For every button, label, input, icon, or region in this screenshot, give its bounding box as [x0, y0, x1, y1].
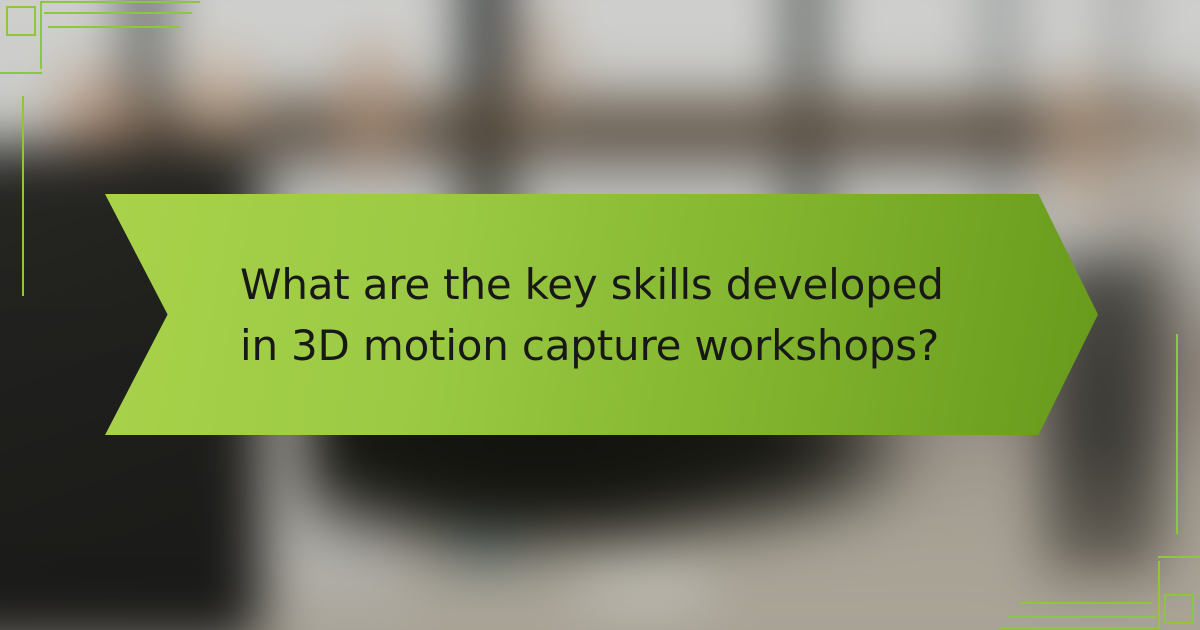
corner-decoration-bottom-right — [1000, 500, 1200, 630]
corner-line-horizontal — [48, 26, 180, 28]
corner-lines-inner — [1000, 530, 1200, 630]
promo-card: What are the key skills developed in 3D … — [0, 0, 1200, 630]
corner-lines-inner — [0, 0, 200, 100]
corner-line-vertical — [22, 96, 24, 296]
corner-line-vertical — [1176, 334, 1178, 534]
corner-line-horizontal — [1020, 602, 1152, 604]
question-text: What are the key skills developed in 3D … — [105, 254, 1098, 376]
corner-decoration-top-left — [0, 0, 200, 130]
question-banner: What are the key skills developed in 3D … — [105, 194, 1098, 435]
